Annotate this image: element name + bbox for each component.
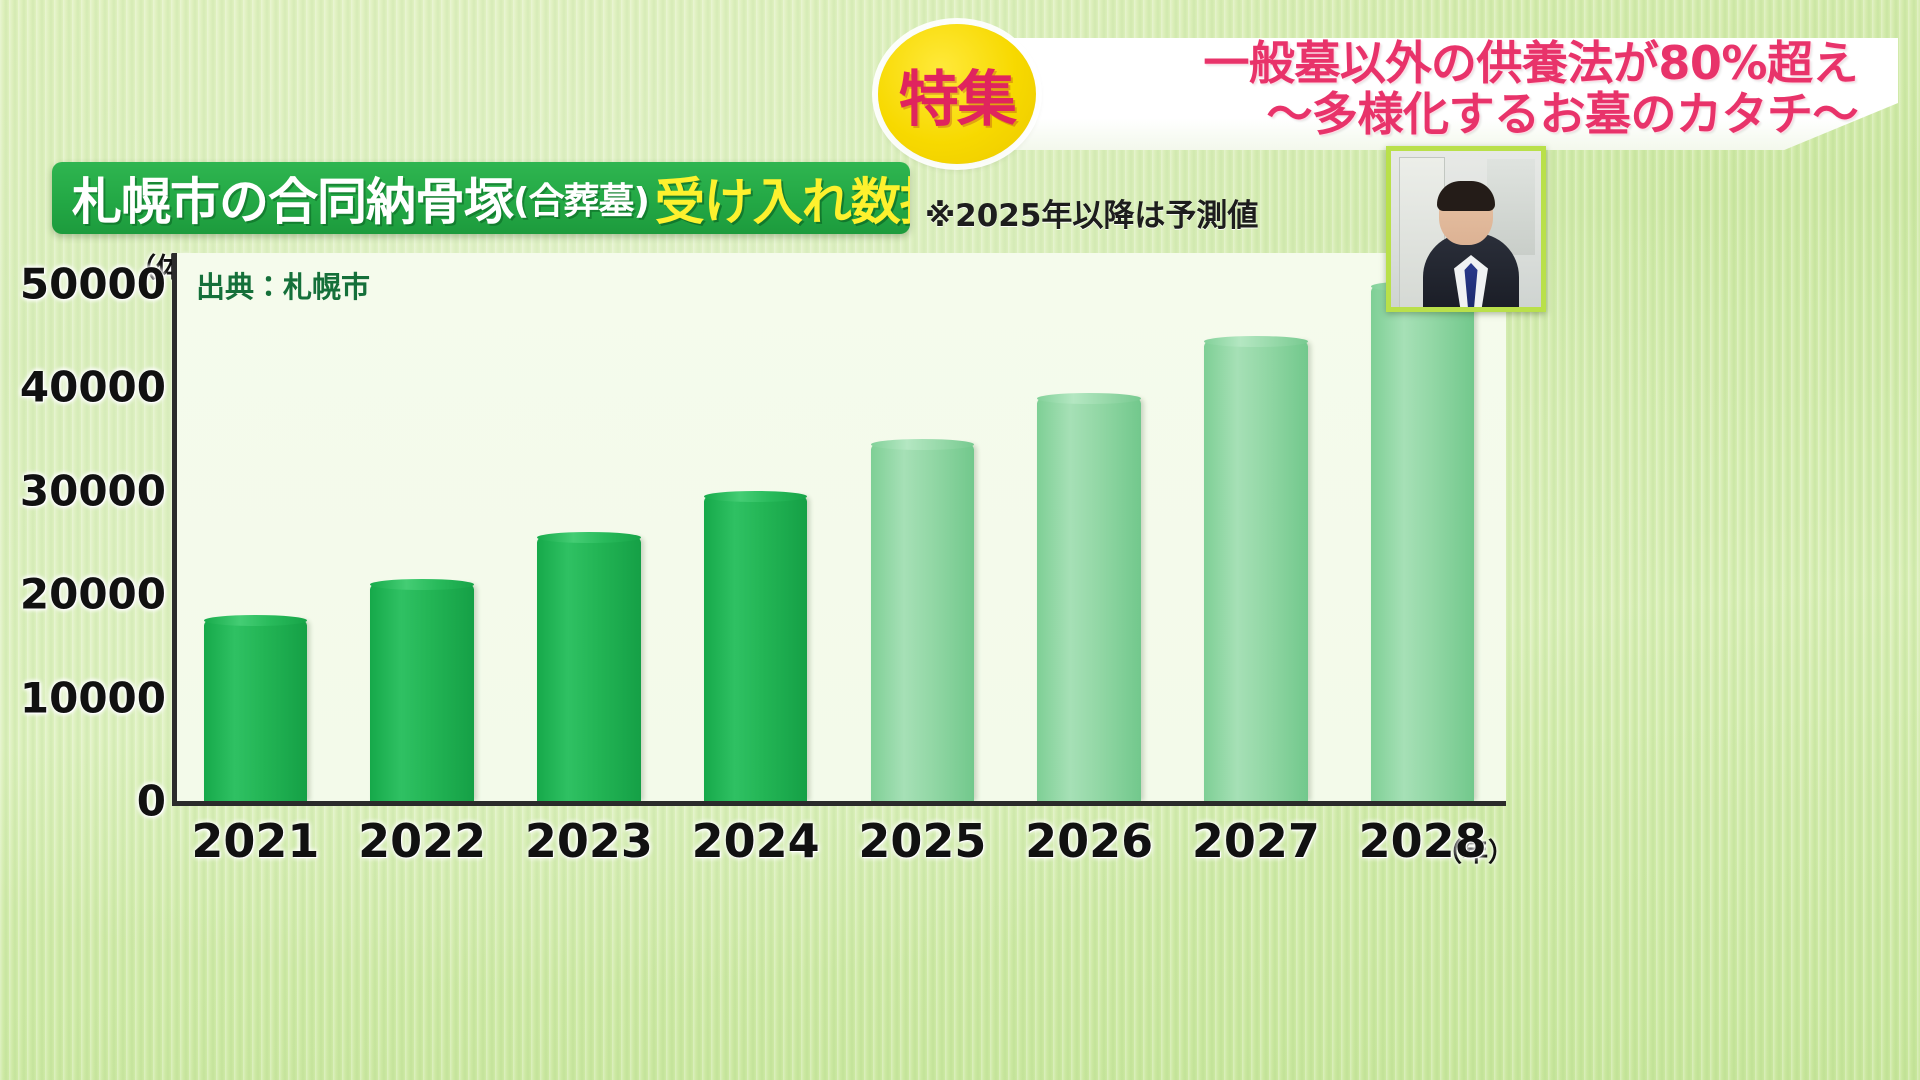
y-axis-tick: 30000 bbox=[20, 466, 166, 515]
chart-title-banner: 札幌市の合同納骨塚 (合葬墓) 受け入れ数推移 bbox=[52, 162, 910, 234]
x-axis-label-2023: 2023 bbox=[506, 814, 673, 868]
presenter-video-inset bbox=[1386, 146, 1546, 312]
bar-slot bbox=[370, 253, 473, 801]
bar-2025[interactable] bbox=[871, 444, 974, 801]
bar-slot bbox=[1371, 253, 1474, 801]
bar-slot bbox=[1204, 253, 1307, 801]
bar-2023[interactable] bbox=[537, 537, 640, 801]
x-axis-label-2028: 2028 bbox=[1339, 814, 1506, 868]
feature-headline-text: 一般墓以外の供養法が80%超え 〜多様化するお墓のカタチ〜 bbox=[1028, 40, 1858, 138]
feature-headline-line2: 〜多様化するお墓のカタチ〜 bbox=[1028, 91, 1858, 138]
y-axis-tick: 40000 bbox=[20, 363, 166, 412]
bar-cap bbox=[704, 491, 807, 502]
chart-title-paren: (合葬墓) bbox=[513, 172, 649, 224]
bar-cap bbox=[1204, 336, 1307, 347]
feature-badge: 特集 bbox=[878, 24, 1036, 164]
bar-chart: （体） 出典：札幌市 01000020000300004000050000 （年… bbox=[100, 248, 1506, 848]
bar-2024[interactable] bbox=[704, 496, 807, 801]
bar-slot bbox=[704, 253, 807, 801]
y-axis-tick: 50000 bbox=[20, 260, 166, 309]
bar-cap bbox=[537, 532, 640, 543]
feature-headline-line1: 一般墓以外の供養法が80%超え bbox=[1028, 40, 1858, 87]
bar-2021[interactable] bbox=[204, 620, 307, 801]
x-axis-label-2025: 2025 bbox=[839, 814, 1006, 868]
x-axis-label-2027: 2027 bbox=[1173, 814, 1340, 868]
chart-title-main: 札幌市の合同納骨塚 bbox=[72, 162, 513, 234]
bar-cap bbox=[370, 579, 473, 590]
bar-slot bbox=[1037, 253, 1140, 801]
feature-headline-block: 一般墓以外の供養法が80%超え 〜多様化するお墓のカタチ〜 特集 bbox=[878, 24, 1898, 164]
bar-2028[interactable] bbox=[1371, 286, 1474, 801]
bar-slot bbox=[204, 253, 307, 801]
bar-slot bbox=[537, 253, 640, 801]
bar-cap bbox=[871, 439, 974, 450]
chart-title-accent: 受け入れ数推移 bbox=[655, 162, 910, 234]
y-axis-tick: 20000 bbox=[20, 570, 166, 619]
bar-cap bbox=[204, 615, 307, 626]
x-axis-label-2021: 2021 bbox=[172, 814, 339, 868]
x-axis-label-2022: 2022 bbox=[339, 814, 506, 868]
y-axis-tick: 0 bbox=[137, 777, 166, 826]
x-axis-line bbox=[172, 801, 1506, 806]
forecast-note: ※2025年以降は予測値 bbox=[925, 190, 1258, 235]
bar-2027[interactable] bbox=[1204, 341, 1307, 801]
y-axis-ticks: 01000020000300004000050000 bbox=[100, 253, 170, 801]
bar-2026[interactable] bbox=[1037, 398, 1140, 801]
x-axis-label-2026: 2026 bbox=[1006, 814, 1173, 868]
bar-cap bbox=[1037, 393, 1140, 404]
x-axis-labels: （年） 20212022202320242025202620272028 bbox=[172, 814, 1506, 874]
feature-badge-label: 特集 bbox=[899, 51, 1015, 138]
bar-slot bbox=[871, 253, 974, 801]
x-axis-label-2024: 2024 bbox=[672, 814, 839, 868]
bar-series bbox=[172, 253, 1506, 801]
presenter-hair bbox=[1437, 181, 1495, 211]
bar-2022[interactable] bbox=[370, 584, 473, 801]
y-axis-tick: 10000 bbox=[20, 673, 166, 722]
